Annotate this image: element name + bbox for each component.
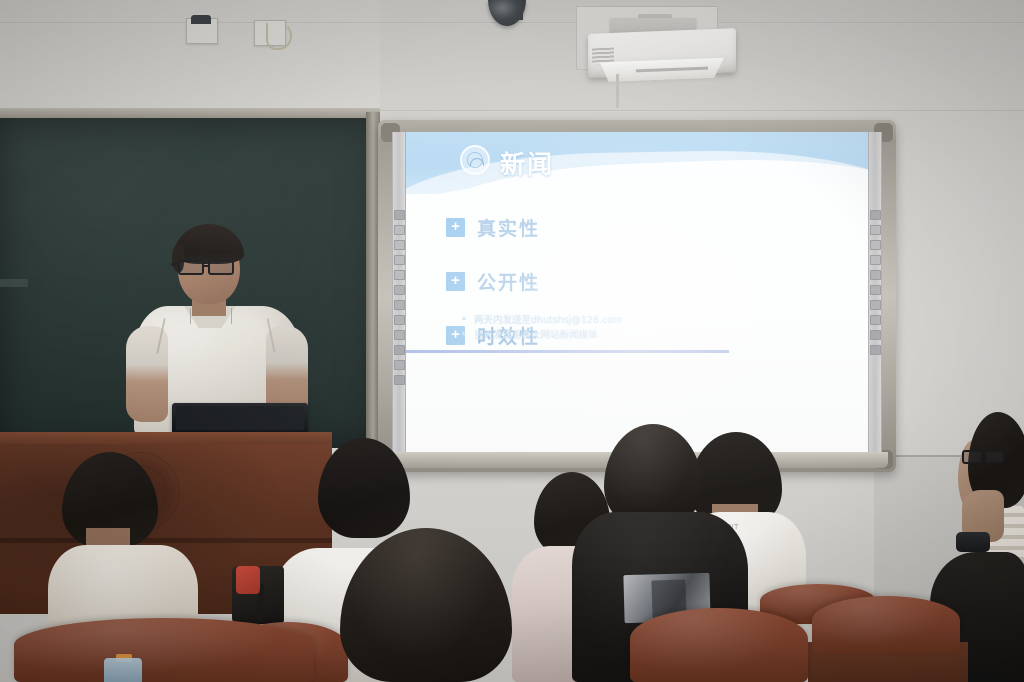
more-icon[interactable] [870, 345, 881, 355]
auditorium-chair[interactable] [14, 618, 314, 682]
save-icon[interactable] [870, 330, 881, 340]
glasses-lens [962, 450, 983, 464]
slide-subbullet: 两天内发送至dhutshsj@126.com [458, 314, 788, 327]
shape-icon[interactable] [394, 315, 405, 325]
slide-title: 新闻 [500, 145, 554, 181]
slide-bullet-item: + 真实性 [446, 214, 786, 241]
lecturer-hair [174, 224, 244, 264]
slide-divider-rule [406, 350, 729, 353]
projector-vent [592, 48, 614, 65]
pen-icon[interactable] [870, 255, 881, 265]
projector-cable [616, 74, 619, 108]
whiteboard-toolbar-left[interactable] [392, 132, 406, 460]
pen-icon[interactable] [870, 225, 881, 235]
menu-icon[interactable] [394, 210, 405, 220]
wall-upper-left [0, 0, 380, 112]
undo-icon[interactable] [394, 360, 405, 370]
laptop-screen [176, 406, 304, 430]
pen-icon[interactable] [394, 270, 405, 280]
save-icon[interactable] [394, 345, 405, 355]
glasses-icon [962, 450, 1004, 465]
more-icon[interactable] [394, 375, 405, 385]
plus-icon: + [446, 218, 465, 237]
text-icon[interactable] [394, 330, 405, 340]
slide-bullet-label: 真实性 [477, 214, 540, 241]
select-icon[interactable] [394, 300, 405, 310]
glasses-lens [178, 260, 204, 275]
eraser-icon[interactable] [870, 270, 881, 280]
select-icon[interactable] [870, 285, 881, 295]
whiteboard-surface[interactable]: 新闻 + 真实性 + 公开性 + 时效性 两天内发送至dhutshsj@126.… [392, 132, 882, 460]
glasses-lens [208, 260, 234, 275]
pen-icon[interactable] [394, 225, 405, 235]
lecturer-arm-left [126, 326, 168, 422]
auditorium-chair[interactable] [812, 596, 960, 654]
chalk-rail [0, 279, 28, 287]
backpack-accent [236, 566, 260, 594]
university-crest-icon [460, 145, 490, 175]
wall-outlet-icon [186, 18, 218, 44]
glasses-lens [984, 450, 1005, 464]
projected-slide: 新闻 + 真实性 + 公开性 + 时效性 两天内发送至dhutshsj@126.… [406, 132, 868, 460]
auditorium-chair[interactable] [630, 608, 808, 682]
eraser-icon[interactable] [394, 285, 405, 295]
glasses-icon [178, 260, 242, 276]
slide-bullet-item: + 公开性 [446, 268, 786, 295]
plus-icon: + [446, 272, 465, 291]
pen-icon[interactable] [394, 240, 405, 250]
wall-seam-mid [378, 110, 1024, 112]
lectern-shelf-line [0, 538, 332, 543]
text-icon[interactable] [870, 315, 881, 325]
menu-icon[interactable] [870, 210, 881, 220]
pen-icon[interactable] [394, 255, 405, 265]
classroom-photo: 新闻 + 真实性 + 公开性 + 时效性 两天内发送至dhutshsj@126.… [0, 0, 1024, 682]
wristwatch-icon [956, 532, 990, 552]
slide-subbullet-list: 两天内发送至dhutshsj@126.com 当天发送至各大网站新闻媒体 [458, 314, 788, 344]
cable-icon [266, 22, 292, 50]
slide-bullet-label: 公开性 [477, 268, 540, 295]
pen-icon[interactable] [870, 240, 881, 250]
water-bottle [104, 658, 142, 682]
whiteboard-toolbar-right[interactable] [868, 132, 882, 460]
slide-subbullet: 当天发送至各大网站新闻媒体 [458, 329, 788, 342]
shape-icon[interactable] [870, 300, 881, 310]
